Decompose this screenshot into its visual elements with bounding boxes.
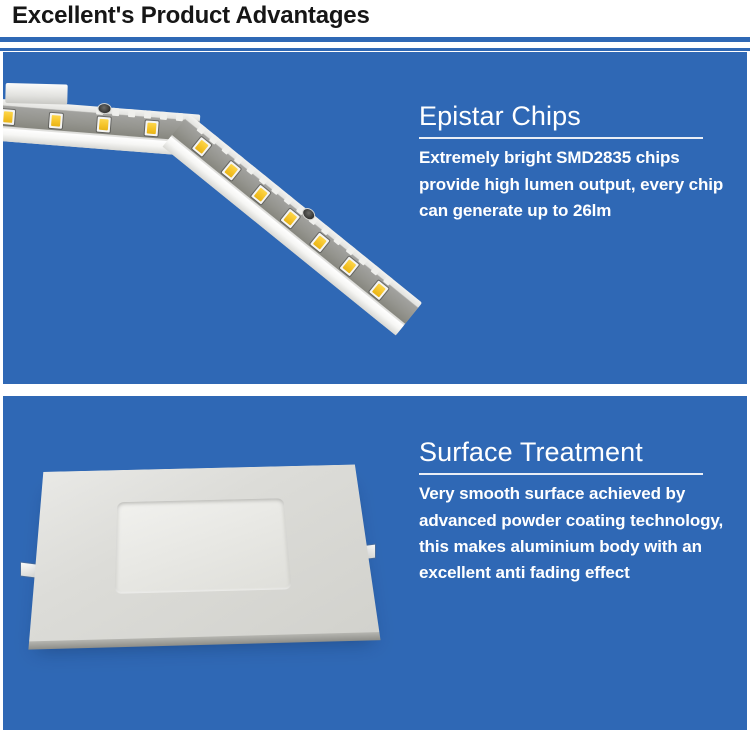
panel-light-diffuser — [115, 499, 292, 594]
led-strip-photo — [3, 52, 415, 384]
feature-heading: Surface Treatment — [419, 438, 739, 466]
product-advantages-page: Excellent's Product Advantages — [0, 0, 750, 730]
strip-ridge — [176, 113, 184, 122]
feature-text-epistar-chips: Epistar Chips Extremely bright SMD2835 c… — [419, 102, 739, 224]
feature-heading: Epistar Chips — [419, 102, 739, 130]
panel-light-body — [29, 465, 379, 643]
led-chip — [1, 109, 15, 125]
led-panel-illustration — [3, 396, 415, 730]
heading-underline — [419, 473, 703, 475]
led-chip — [49, 113, 63, 129]
feature-panel-epistar-chips: Epistar Chips Extremely bright SMD2835 c… — [0, 52, 750, 384]
led-chip — [145, 120, 159, 136]
led-strip-arm-left — [0, 98, 200, 115]
header-divider-thick — [0, 37, 750, 42]
led-strip-arm-right — [189, 114, 422, 303]
strip-ridge — [160, 111, 168, 120]
led-chip — [97, 117, 111, 133]
feature-body-text: Very smooth surface achieved by advanced… — [419, 481, 739, 586]
strip-diffuser-lens — [163, 137, 404, 336]
strip-ridge — [112, 108, 120, 117]
feature-body-text: Extremely bright SMD2835 chips provide h… — [419, 145, 739, 224]
led-strip-illustration — [3, 52, 415, 384]
page-title: Excellent's Product Advantages — [12, 2, 370, 30]
strip-ridge — [128, 109, 136, 118]
header-divider-thin — [0, 48, 750, 51]
square-led-panel-photo — [3, 396, 415, 730]
strip-endcap — [5, 83, 68, 105]
feature-panel-surface-treatment: Surface Treatment Very smooth surface ac… — [0, 396, 750, 730]
heading-underline — [419, 137, 703, 139]
feature-text-surface-treatment: Surface Treatment Very smooth surface ac… — [419, 438, 739, 587]
strip-ridge — [144, 110, 152, 119]
panel-light-edge — [28, 632, 380, 650]
page-header: Excellent's Product Advantages — [0, 0, 750, 52]
